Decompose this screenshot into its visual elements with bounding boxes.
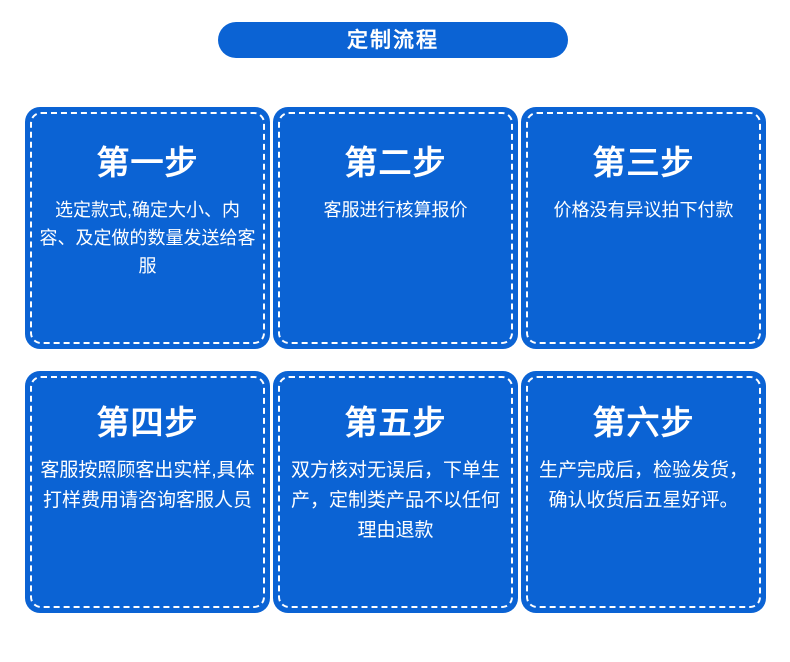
step-card-3-heading: 第三步	[593, 145, 695, 182]
step-card-6: 第六步 生产完成后，检验发货，确认收货后五星好评。	[521, 371, 766, 613]
step-card-1-content: 第一步 选定款式,确定大小、内容、及定做的数量发送给客服	[39, 145, 256, 280]
step-card-2-heading: 第二步	[345, 145, 447, 182]
step-card-3: 第三步 价格没有异议拍下付款	[521, 107, 766, 349]
step-card-6-body: 生产完成后，检验发货，确认收货后五星好评。	[535, 456, 752, 516]
step-card-5-body: 双方核对无误后，下单生产，定制类产品不以任何理由退款	[287, 456, 504, 546]
steps-grid: 第一步 选定款式,确定大小、内容、及定做的数量发送给客服 第二步 客服进行核算报…	[25, 107, 766, 613]
step-card-3-content: 第三步 价格没有异议拍下付款	[535, 145, 752, 224]
step-card-1-body: 选定款式,确定大小、内容、及定做的数量发送给客服	[39, 196, 256, 280]
step-card-2-content: 第二步 客服进行核算报价	[287, 145, 504, 224]
step-card-5: 第五步 双方核对无误后，下单生产，定制类产品不以任何理由退款	[273, 371, 518, 613]
step-card-6-content: 第六步 生产完成后，检验发货，确认收货后五星好评。	[535, 405, 752, 516]
step-card-5-heading: 第五步	[345, 405, 447, 442]
step-card-6-heading: 第六步	[593, 405, 695, 442]
step-card-2: 第二步 客服进行核算报价	[273, 107, 518, 349]
step-card-2-body: 客服进行核算报价	[287, 196, 504, 224]
step-card-4-body: 客服按照顾客出实样,具体打样费用请咨询客服人员	[39, 456, 256, 516]
step-card-5-content: 第五步 双方核对无误后，下单生产，定制类产品不以任何理由退款	[287, 405, 504, 546]
page-title-banner: 定制流程	[218, 22, 568, 58]
page-title: 定制流程	[347, 30, 439, 51]
step-card-1-heading: 第一步	[97, 145, 199, 182]
step-card-4: 第四步 客服按照顾客出实样,具体打样费用请咨询客服人员	[25, 371, 270, 613]
step-card-4-content: 第四步 客服按照顾客出实样,具体打样费用请咨询客服人员	[39, 405, 256, 516]
step-card-4-heading: 第四步	[97, 405, 199, 442]
step-card-3-body: 价格没有异议拍下付款	[535, 196, 752, 224]
step-card-1: 第一步 选定款式,确定大小、内容、及定做的数量发送给客服	[25, 107, 270, 349]
